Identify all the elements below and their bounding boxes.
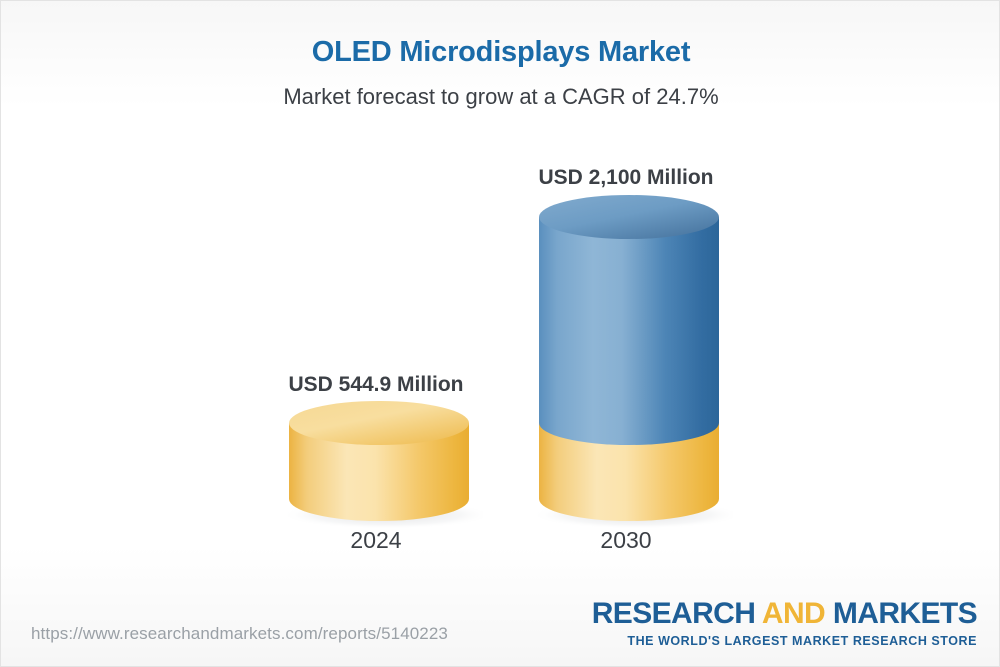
logo-wordmark: RESEARCH AND MARKETS [592, 599, 977, 629]
cylinder-segment-growth [539, 217, 719, 445]
chart-poster: OLED Microdisplays Market Market forecas… [0, 0, 1000, 667]
logo-word-markets: MARKETS [833, 597, 977, 630]
logo-word-research: RESEARCH [592, 597, 756, 630]
source-url[interactable]: https://www.researchandmarkets.com/repor… [31, 624, 448, 644]
cylinder-2030 [533, 161, 733, 541]
category-label-2030: 2030 [539, 527, 713, 554]
cylinder-top [539, 195, 719, 239]
category-label-2024: 2024 [289, 527, 463, 554]
brand-logo: RESEARCH AND MARKETS THE WORLD'S LARGEST… [592, 599, 977, 648]
logo-word-and: AND [762, 597, 825, 630]
cylinder-top [289, 401, 469, 445]
logo-tagline: THE WORLD'S LARGEST MARKET RESEARCH STOR… [592, 634, 977, 648]
cylinder-2024 [283, 161, 483, 541]
chart-plot-area: USD 544.9 Million [1, 1, 1000, 667]
